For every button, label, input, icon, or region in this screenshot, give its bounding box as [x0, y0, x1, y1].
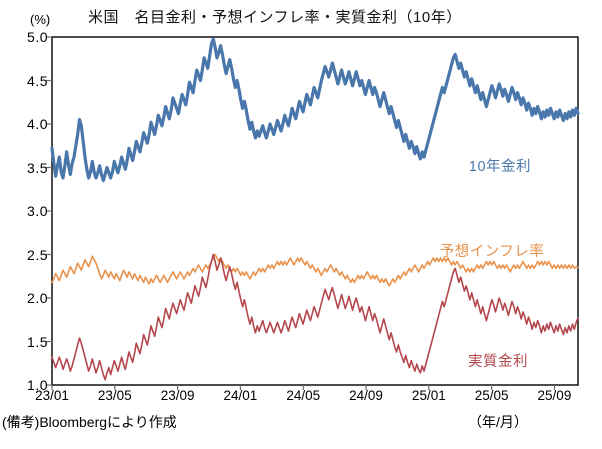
x-tick-label: 25/09 — [538, 388, 572, 403]
x-tick-label: 25/05 — [475, 388, 509, 403]
x-tick-label: 24/05 — [286, 388, 320, 403]
x-axis-caption: （年/月） — [468, 412, 528, 432]
y-tick-label: 2.0 — [27, 290, 48, 306]
series-label-real: 実質金利 — [468, 350, 528, 371]
y-tick-label: 3.5 — [27, 160, 48, 176]
source-note: (備考)Bloombergにより作成 — [2, 412, 177, 432]
y-tick-label: 4.0 — [27, 116, 48, 132]
y-tick-label: 1.5 — [27, 334, 48, 350]
chart-figure: 米国 名目金利・予想インフレ率・実質金利（10年） (%) 1.01.52.02… — [0, 0, 602, 449]
y-tick-label: 2.5 — [27, 247, 48, 263]
y-tick-label: 5.0 — [27, 29, 48, 45]
y-tick-label: 3.0 — [27, 203, 48, 219]
series-label-nominal: 10年金利 — [469, 155, 531, 176]
x-tick-label: 23/05 — [98, 388, 132, 403]
x-tick-label: 24/01 — [224, 388, 258, 403]
x-tick-label: 25/01 — [412, 388, 446, 403]
x-tick-label: 23/01 — [35, 388, 69, 403]
x-tick-label: 24/09 — [349, 388, 383, 403]
series-label-breakeven: 予想インフレ率 — [440, 240, 545, 261]
x-tick-label: 23/09 — [161, 388, 195, 403]
plot-area — [0, 0, 602, 449]
y-tick-label: 4.5 — [27, 73, 48, 89]
